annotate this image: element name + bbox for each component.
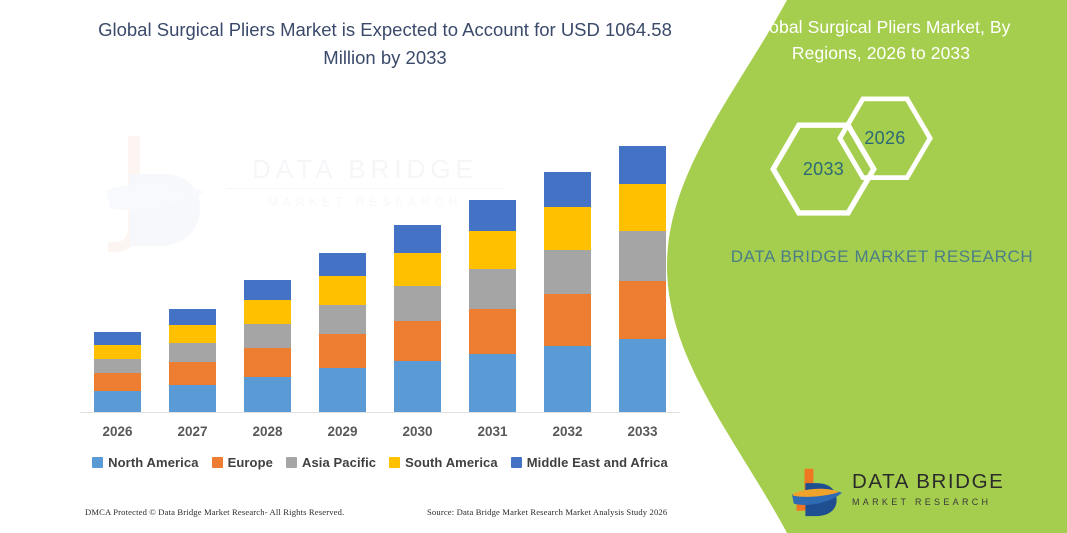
infographic-root: Global Surgical Pliers Market is Expecte… [0, 0, 1067, 533]
bar-segment [394, 253, 441, 286]
bar-segment [394, 321, 441, 362]
bar-segment [544, 172, 591, 208]
bar-segment [94, 391, 141, 412]
hexagon-badges: 2026 2033 [667, 96, 1067, 208]
legend-swatch [389, 457, 400, 468]
stacked-bar [619, 146, 666, 412]
bar-segment [94, 373, 141, 390]
bar-segment [319, 253, 366, 276]
bar-segment [544, 250, 591, 295]
bar-segment [319, 368, 366, 412]
bar-segment [319, 334, 366, 368]
bar-segment [619, 339, 666, 412]
legend-swatch [286, 457, 297, 468]
footer-copyright: DMCA Protected © Data Bridge Market Rese… [85, 507, 344, 517]
bar-segment [619, 231, 666, 281]
bar-segment [619, 184, 666, 232]
x-axis-tick-label: 2026 [80, 424, 155, 439]
legend-label: North America [108, 455, 198, 470]
stacked-bar [544, 172, 591, 412]
bar-segment [469, 269, 516, 309]
stacked-bar [394, 225, 441, 412]
hexagon-badge-2033: 2033 [770, 122, 877, 216]
bar-segment [394, 286, 441, 320]
legend-swatch [212, 457, 223, 468]
bar-segment [319, 305, 366, 334]
stacked-bar [94, 332, 141, 412]
bar-column [80, 120, 155, 412]
stacked-bar [469, 200, 516, 412]
data-bridge-logo-icon [790, 467, 844, 517]
bar-column [455, 120, 530, 412]
x-axis-tick-label: 2030 [380, 424, 455, 439]
bar-segment [394, 225, 441, 252]
bar-segment [619, 146, 666, 184]
bar-segment [469, 354, 516, 412]
legend-label: Asia Pacific [302, 455, 376, 470]
bar-segment [544, 346, 591, 412]
legend-label: Europe [228, 455, 273, 470]
x-axis-tick-label: 2033 [605, 424, 680, 439]
bar-segment [469, 309, 516, 355]
page-title: Global Surgical Pliers Market is Expecte… [75, 16, 695, 72]
bar-segment [169, 325, 216, 343]
bar-segment [469, 231, 516, 269]
legend-item[interactable]: Europe [212, 455, 273, 470]
bar-column [230, 120, 305, 412]
bar-segment [244, 348, 291, 376]
chart-plot-area: DATA BRIDGE MARKET RESEARCH [80, 120, 680, 420]
bar-segment [544, 207, 591, 250]
bar-segment [94, 359, 141, 373]
logo-line1: DATA BRIDGE [852, 471, 1004, 493]
stacked-bar-group [80, 120, 680, 412]
bar-column [380, 120, 455, 412]
bar-segment [244, 280, 291, 300]
bar-segment [394, 361, 441, 412]
legend-label: South America [405, 455, 498, 470]
legend-item[interactable]: Middle East and Africa [511, 455, 668, 470]
chart-legend: North AmericaEuropeAsia PacificSouth Ame… [80, 455, 680, 470]
data-bridge-logo: DATA BRIDGE MARKET RESEARCH [790, 465, 1035, 520]
hexagon-2033-label: 2033 [803, 159, 844, 180]
bar-segment [94, 332, 141, 345]
bar-segment [169, 385, 216, 412]
footer-source: Source: Data Bridge Market Research Mark… [427, 507, 667, 517]
x-axis-tick-label: 2031 [455, 424, 530, 439]
x-axis-tick-label: 2029 [305, 424, 380, 439]
legend-label: Middle East and Africa [527, 455, 668, 470]
stacked-bar [319, 253, 366, 412]
bar-segment [244, 300, 291, 323]
panel-title: Global Surgical Pliers Market, By Region… [667, 14, 1067, 66]
stacked-bar [169, 309, 216, 412]
legend-item[interactable]: Asia Pacific [286, 455, 376, 470]
bar-segment [619, 281, 666, 339]
footer: DMCA Protected © Data Bridge Market Rese… [0, 507, 700, 527]
legend-swatch [92, 457, 103, 468]
legend-swatch [511, 457, 522, 468]
legend-item[interactable]: South America [389, 455, 498, 470]
bar-segment [319, 276, 366, 304]
logo-text: DATA BRIDGE MARKET RESEARCH [852, 471, 1004, 509]
right-green-panel: Global Surgical Pliers Market, By Region… [667, 0, 1067, 533]
bar-segment [169, 309, 216, 325]
bar-segment [544, 294, 591, 346]
x-axis-tick-label: 2027 [155, 424, 230, 439]
x-axis-tick-label: 2032 [530, 424, 605, 439]
bar-segment [169, 362, 216, 384]
bar-column [155, 120, 230, 412]
bar-segment [244, 324, 291, 348]
bar-segment [244, 377, 291, 413]
bar-segment [169, 343, 216, 362]
bar-segment [469, 200, 516, 231]
logo-line2: MARKET RESEARCH [852, 495, 1004, 509]
x-axis-labels: 20262027202820292030203120322033 [80, 424, 680, 439]
bar-column [530, 120, 605, 412]
x-axis-tick-label: 2028 [230, 424, 305, 439]
bar-column [305, 120, 380, 412]
stacked-bar [244, 280, 291, 412]
panel-brand-text: DATA BRIDGE MARKET RESEARCH [667, 243, 1067, 270]
x-axis-line [80, 412, 680, 413]
legend-item[interactable]: North America [92, 455, 198, 470]
bar-segment [94, 345, 141, 359]
